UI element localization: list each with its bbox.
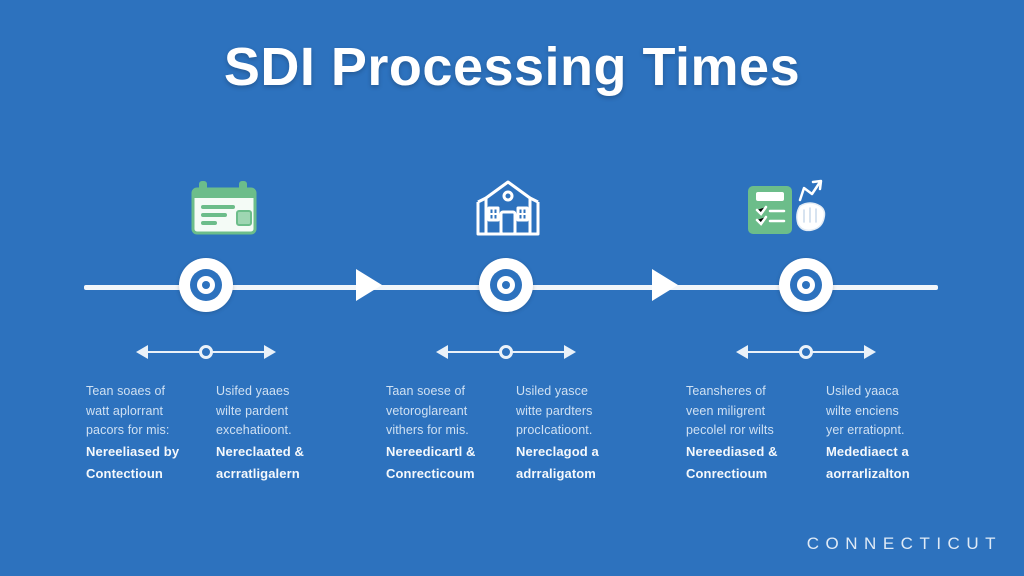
timeline-arrow-1 [356, 269, 382, 301]
node-inner-ring [197, 276, 215, 294]
timeline-node-2[interactable] [479, 258, 533, 312]
column-strong-line: Contectioun [86, 463, 211, 485]
column-line: pacors for mis: [86, 421, 211, 441]
timeline-node-3[interactable] [779, 258, 833, 312]
column-strong-line: Nereedicartl & [386, 441, 511, 463]
column-line: vithers for mis. [386, 421, 511, 441]
column-line: procIcatioont. [516, 421, 641, 441]
column-line: witte pardters [516, 402, 641, 422]
span-center-ring [499, 345, 513, 359]
footer-brand: CONNECTICUT [807, 534, 1002, 554]
column-strong-line: aorrarlizalton [826, 463, 951, 485]
column-line: Usiled yaaca [826, 382, 951, 402]
node-core [802, 281, 810, 289]
text-column-4: Usiled yasce witte pardters procIcatioon… [516, 382, 641, 485]
column-strong-line: Nereclaated & [216, 441, 341, 463]
page-title: SDI Processing Times [0, 38, 1024, 97]
span-center-ring [799, 345, 813, 359]
timeline-arrow-2 [652, 269, 678, 301]
node-core [502, 281, 510, 289]
span-marker-3 [736, 342, 876, 362]
span-row [0, 330, 1024, 370]
node-ring [490, 269, 522, 301]
icon-slot-3 [730, 170, 850, 250]
column-line: wilte pardent [216, 402, 341, 422]
span-arrow-left-icon [736, 345, 748, 359]
icon-row [0, 170, 1024, 250]
column-strong-line: Nereeliased by [86, 441, 211, 463]
icon-slot-2 [448, 170, 568, 250]
column-strong-line: Conrecticoum [386, 463, 511, 485]
column-strong-line: Nereediased & [686, 441, 811, 463]
icon-slot-1 [164, 170, 284, 250]
span-arrow-left-icon [436, 345, 448, 359]
column-strong-line: Nereclagod a [516, 441, 641, 463]
column-strong-line: Conrectioum [686, 463, 811, 485]
infographic-canvas: SDI Processing Times [0, 0, 1024, 576]
calendar-card-icon [189, 177, 259, 244]
text-column-5: Teansheres of veen miligrent pecolel ror… [686, 382, 811, 485]
column-strong-line: Medediaect a [826, 441, 951, 463]
span-marker-2 [436, 342, 576, 362]
span-marker-1 [136, 342, 276, 362]
span-arrow-right-icon [864, 345, 876, 359]
column-line: vetoroglareant [386, 402, 511, 422]
span-arrow-right-icon [564, 345, 576, 359]
column-line: Tean soaes of [86, 382, 211, 402]
text-columns: Tean soaes of watt aplorrant pacors for … [0, 382, 1024, 512]
column-line: Usiled yasce [516, 382, 641, 402]
column-line: yer erratiopnt. [826, 421, 951, 441]
column-line: veen miligrent [686, 402, 811, 422]
column-line: watt aplorrant [86, 402, 211, 422]
column-line: Taan soese of [386, 382, 511, 402]
span-arrow-left-icon [136, 345, 148, 359]
column-line: pecolel ror wilts [686, 421, 811, 441]
text-column-6: Usiled yaaca wilte enciens yer erratiopn… [826, 382, 951, 485]
node-ring [790, 269, 822, 301]
column-line: Usifed yaaes [216, 382, 341, 402]
text-column-1: Tean soaes of watt aplorrant pacors for … [86, 382, 211, 485]
node-ring [190, 269, 222, 301]
checklist-hand-icon [742, 176, 838, 245]
node-inner-ring [497, 276, 515, 294]
text-column-2: Usifed yaaes wilte pardent excehatioont.… [216, 382, 341, 485]
node-inner-ring [797, 276, 815, 294]
timeline [0, 255, 1024, 325]
column-line: Teansheres of [686, 382, 811, 402]
node-core [202, 281, 210, 289]
column-strong-line: adrraligatom [516, 463, 641, 485]
span-center-ring [199, 345, 213, 359]
span-arrow-right-icon [264, 345, 276, 359]
column-strong-line: acrratligalern [216, 463, 341, 485]
building-icon [472, 176, 544, 245]
timeline-node-1[interactable] [179, 258, 233, 312]
column-line: excehatioont. [216, 421, 341, 441]
text-column-3: Taan soese of vetoroglareant vithers for… [386, 382, 511, 485]
column-line: wilte enciens [826, 402, 951, 422]
